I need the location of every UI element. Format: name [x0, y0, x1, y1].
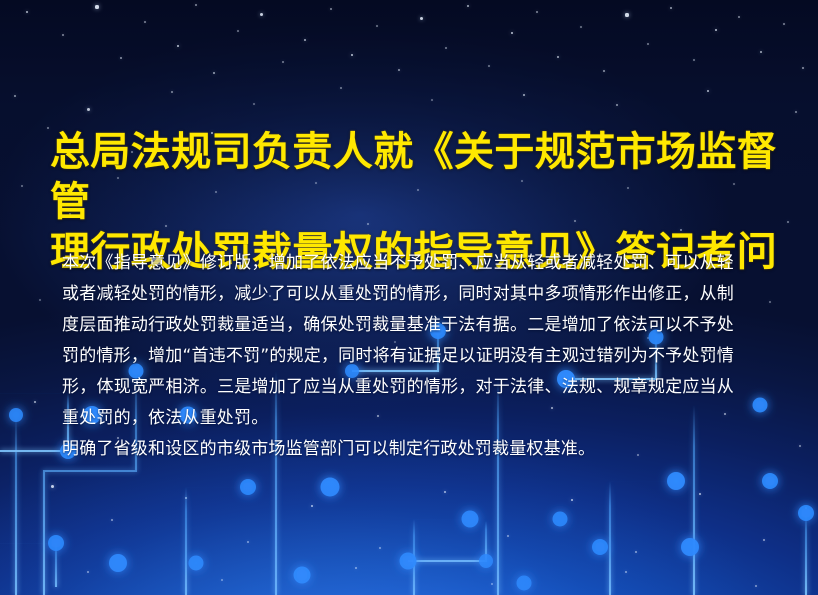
slide-canvas: 总局法规司负责人就《关于规范市场监督管理行政处罚裁量权的指导意见》答记者问 本次…: [0, 0, 818, 595]
body-text-block: 本次《指导意见》修订版，增加了依法应当不予处罚、应当从轻或者减轻处罚、可以从轻或…: [62, 248, 734, 465]
page-title-line-1: 总局法规司负责人就《关于规范市场监督管: [50, 129, 777, 225]
body-paragraph-2: 明确了省级和设区的市级市场监管部门可以制定行政处罚裁量权基准。: [62, 434, 734, 465]
body-paragraph-1: 本次《指导意见》修订版，增加了依法应当不予处罚、应当从轻或者减轻处罚、可以从轻或…: [62, 248, 734, 434]
slide-content: 总局法规司负责人就《关于规范市场监督管理行政处罚裁量权的指导意见》答记者问 本次…: [0, 0, 818, 595]
